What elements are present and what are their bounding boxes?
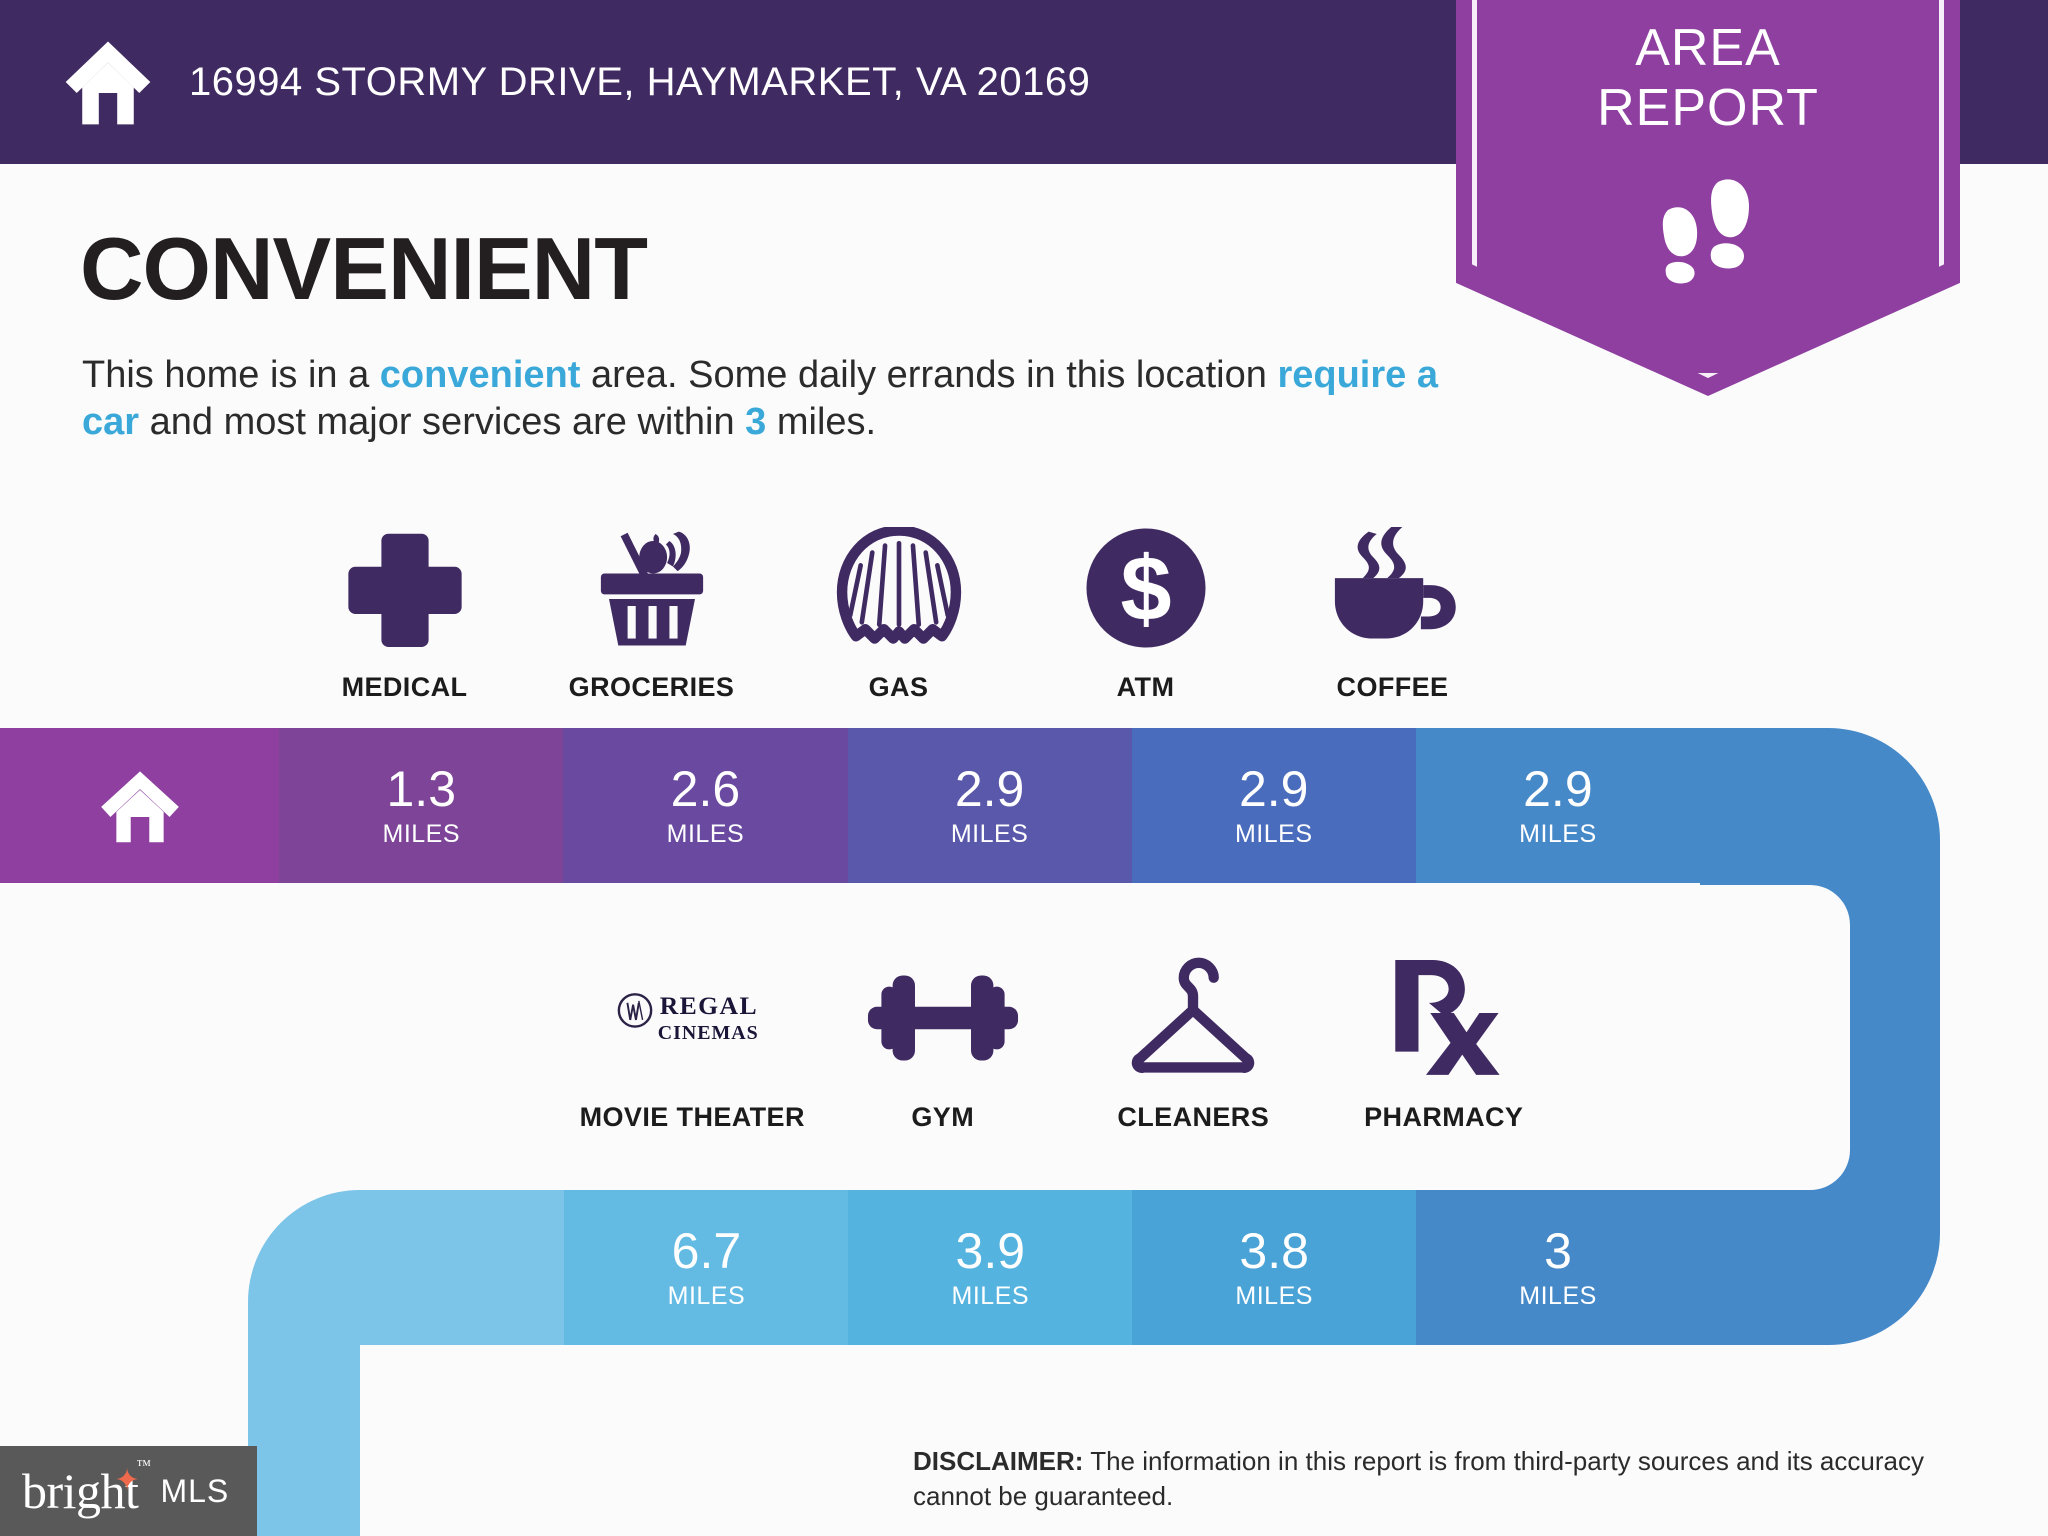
distance-cell-movie-theater: 6.7 MILES xyxy=(564,1190,848,1345)
distance-value: 2.9 xyxy=(1523,763,1593,815)
amenity-medical: MEDICAL xyxy=(281,525,528,703)
distance-cell-gas: 2.9 MILES xyxy=(848,728,1132,883)
amenity-gym: GYM xyxy=(818,955,1069,1133)
distance-cell-cleaners: 3.8 MILES xyxy=(1132,1190,1416,1345)
distance-cell-gym: 3.9 MILES xyxy=(848,1190,1132,1345)
amenity-movie-theater: REGAL CINEMAS MOVIE THEATER xyxy=(567,955,818,1133)
amenity-groceries: GROCERIES xyxy=(528,525,775,703)
distance-value: 3.9 xyxy=(956,1225,1026,1277)
amenity-label: PHARMACY xyxy=(1364,1102,1523,1133)
header-address: 16994 STORMY DRIVE, HAYMARKET, VA 20169 xyxy=(189,60,1090,105)
page-title: CONVENIENT xyxy=(80,218,647,320)
amenity-label: ATM xyxy=(1117,672,1175,703)
amenity-label: GAS xyxy=(869,672,929,703)
footprints-icon xyxy=(1648,162,1768,292)
badge-title: AREA REPORT xyxy=(1456,18,1960,138)
amenity-label: COFFEE xyxy=(1337,672,1449,703)
subtitle-part-3: and most major services are within xyxy=(139,401,745,443)
distance-bar-row-2: 6.7 MILES 3.9 MILES 3.8 MILES 3 MILES xyxy=(360,1190,1700,1345)
amenity-label: MEDICAL xyxy=(342,672,468,703)
hanger-icon xyxy=(1124,955,1262,1080)
distance-unit: MILES xyxy=(1235,819,1313,849)
gas-shell-icon xyxy=(835,525,963,650)
dumbbell-icon xyxy=(857,955,1029,1080)
subtitle-highlight-convenient: convenient xyxy=(380,354,581,396)
amenity-cleaners: CLEANERS xyxy=(1068,955,1319,1133)
distance-cell-atm: 2.9 MILES xyxy=(1132,728,1416,883)
distance-value: 2.9 xyxy=(955,763,1025,815)
regal-cinemas-logo: REGAL CINEMAS xyxy=(616,955,768,1080)
distance-value: 6.7 xyxy=(672,1225,742,1277)
disclaimer: DISCLAIMER: The information in this repo… xyxy=(913,1444,1983,1514)
snake-right-elbow xyxy=(1700,728,1940,1345)
distance-bar-row-1: 1.3 MILES 2.6 MILES 2.9 MILES 2.9 MILES … xyxy=(0,728,1700,883)
distance-cell-coffee: 2.9 MILES xyxy=(1416,728,1700,883)
amenity-label: CLEANERS xyxy=(1117,1102,1269,1133)
amenity-icon-row-2: REGAL CINEMAS MOVIE THEATER GYM xyxy=(567,955,1569,1133)
distance-unit: MILES xyxy=(952,1281,1030,1311)
bright-wordmark: bright ✦ ™ xyxy=(22,1462,138,1520)
rx-icon xyxy=(1386,955,1502,1080)
distance-home-cell xyxy=(0,728,279,883)
distance-cell-pharmacy: 3 MILES xyxy=(1416,1190,1700,1345)
distance-cell-medical: 1.3 MILES xyxy=(279,728,563,883)
amenity-label: GYM xyxy=(911,1102,974,1133)
distance-unit: MILES xyxy=(667,819,745,849)
svg-text:REGAL: REGAL xyxy=(660,991,758,1020)
svg-text:CINEMAS: CINEMAS xyxy=(658,1021,759,1043)
amenity-gas: GAS xyxy=(775,525,1022,703)
bright-mls-logo: bright ✦ ™ MLS xyxy=(0,1446,257,1536)
subtitle-part-1: This home is in a xyxy=(82,354,380,396)
amenity-icon-row-1: MEDICAL GROCERIES xyxy=(281,525,1516,703)
distance-lead-cell xyxy=(360,1190,564,1345)
distance-value: 1.3 xyxy=(387,763,457,815)
area-report-badge: AREA REPORT xyxy=(1456,0,1960,396)
svg-text:$: $ xyxy=(1120,538,1171,640)
page-subtitle: This home is in a convenient area. Some … xyxy=(82,352,1442,446)
distance-value: 3 xyxy=(1544,1225,1572,1277)
coffee-cup-icon xyxy=(1325,525,1461,650)
distance-unit: MILES xyxy=(383,819,461,849)
amenity-atm: $ ATM xyxy=(1022,525,1269,703)
amenity-label: GROCERIES xyxy=(569,672,735,703)
distance-value: 2.6 xyxy=(671,763,741,815)
amenity-pharmacy: PHARMACY xyxy=(1319,955,1570,1133)
header-bar: 16994 STORMY DRIVE, HAYMARKET, VA 20169 xyxy=(0,0,1449,164)
distance-value: 3.8 xyxy=(1239,1225,1309,1277)
badge-line-2: REPORT xyxy=(1456,78,1960,138)
amenity-coffee: COFFEE xyxy=(1269,525,1516,703)
home-icon xyxy=(62,36,154,128)
distance-value: 2.9 xyxy=(1239,763,1309,815)
distance-unit: MILES xyxy=(668,1281,746,1311)
grocery-basket-icon xyxy=(586,525,718,650)
home-icon xyxy=(97,768,183,844)
distance-unit: MILES xyxy=(1519,819,1597,849)
distance-unit: MILES xyxy=(1235,1281,1313,1311)
distance-cell-groceries: 2.6 MILES xyxy=(563,728,847,883)
disclaimer-label: DISCLAIMER: xyxy=(913,1446,1083,1476)
subtitle-part-4: miles. xyxy=(766,401,876,443)
trademark-mark: ™ xyxy=(136,1458,150,1475)
dollar-circle-icon: $ xyxy=(1084,525,1208,650)
subtitle-part-2: area. Some daily errands in this locatio… xyxy=(580,354,1277,396)
distance-unit: MILES xyxy=(1519,1281,1597,1311)
distance-unit: MILES xyxy=(951,819,1029,849)
mls-label: MLS xyxy=(160,1473,229,1510)
badge-line-1: AREA xyxy=(1456,18,1960,78)
amenity-label: MOVIE THEATER xyxy=(580,1102,805,1133)
subtitle-highlight-miles: 3 xyxy=(745,401,766,443)
medical-cross-icon xyxy=(346,525,464,650)
